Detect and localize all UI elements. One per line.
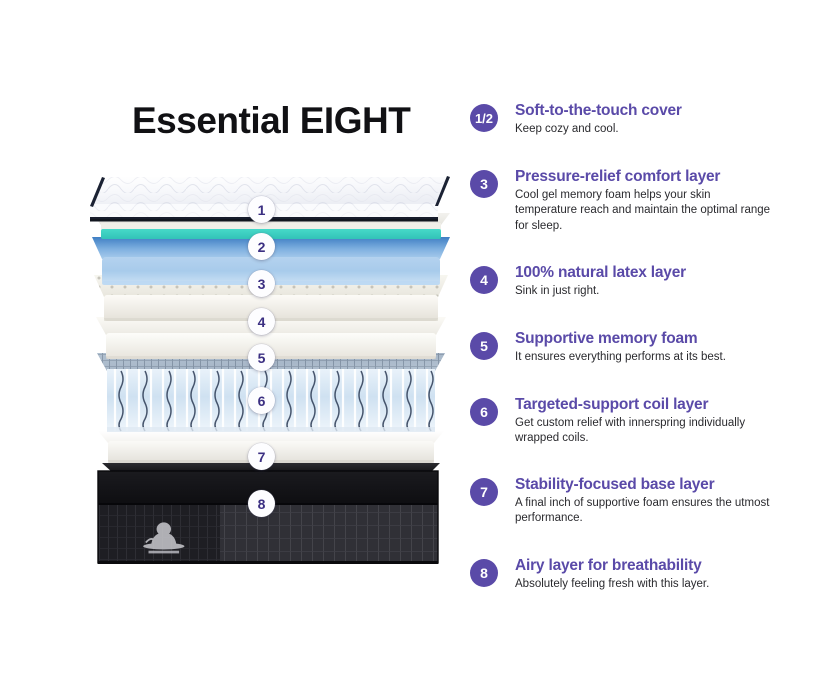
diagram-badge-7: 7 [248,443,275,470]
feature-badge-7: 7 [470,478,498,506]
feature-body-8: Absolutely feeling fresh with this layer… [515,577,773,592]
diagram-badge-8: 8 [248,490,275,517]
feature-badge-4: 4 [470,266,498,294]
feature-body-7: A final inch of supportive foam ensures … [515,496,773,527]
feature-text-6: Stability-focused base layer A final inc… [515,476,773,527]
feature-body-5: It ensures everything performs at its be… [515,350,773,365]
feature-badge-6: 6 [470,398,498,426]
feature-badge-5: 5 [470,332,498,360]
feature-heading-4: 100% natural latex layer [515,264,773,282]
feature-body-6: Get custom relief with innerspring indiv… [515,416,773,447]
feature-text-4: Supportive memory foam It ensures everyt… [515,330,773,365]
feature-badge-3: 3 [470,170,498,198]
diagram-badge-3: 3 [248,270,275,297]
feature-text-1: Soft-to-the-touch cover Keep cozy and co… [515,102,773,137]
diagram-badge-2: 2 [248,233,275,260]
feature-text-2: Pressure-relief comfort layer Cool gel m… [515,168,773,234]
feature-heading-3: Pressure-relief comfort layer [515,168,773,186]
mattress-layer-diagram: 1 2 3 4 5 6 7 8 [82,175,452,570]
diagram-badge-4: 4 [248,308,275,335]
feature-text-5: Targeted-support coil layer Get custom r… [515,396,773,447]
feature-body-3: Cool gel memory foam helps your skin tem… [515,188,773,234]
feature-text-3: 100% natural latex layer Sink in just ri… [515,264,773,299]
diagram-badge-5: 5 [248,344,275,371]
diagram-badge-1: 1 [248,196,275,223]
page-title: Essential EIGHT [132,100,410,142]
feature-badge-8: 8 [470,559,498,587]
feature-text-7: Airy layer for breathability Absolutely … [515,557,773,592]
feature-heading-8: Airy layer for breathability [515,557,773,575]
feature-badge-1: 1/2 [470,104,498,132]
feature-body-1: Keep cozy and cool. [515,122,773,137]
feature-body-4: Sink in just right. [515,284,773,299]
feature-heading-7: Stability-focused base layer [515,476,773,494]
feature-heading-1: Soft-to-the-touch cover [515,102,773,120]
feature-heading-5: Supportive memory foam [515,330,773,348]
feature-heading-6: Targeted-support coil layer [515,396,773,414]
diagram-badge-6: 6 [248,387,275,414]
